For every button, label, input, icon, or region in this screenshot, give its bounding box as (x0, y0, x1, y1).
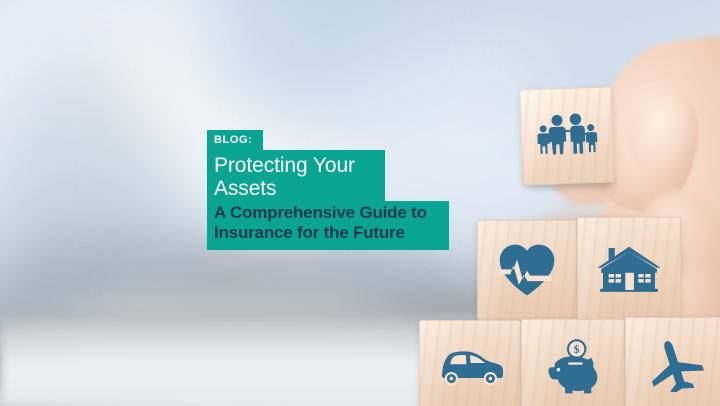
block-health (477, 220, 577, 320)
house-icon (595, 243, 663, 295)
kicker-label: BLOG: (214, 133, 256, 147)
block-savings: $ (521, 319, 625, 406)
block-family (519, 86, 614, 185)
headline-panel: Protecting Your Assets (207, 150, 385, 201)
page-title: Protecting Your Assets (214, 154, 378, 200)
subheadline-panel: A Comprehensive Guide to Insurance for t… (207, 201, 449, 250)
piggy-bank-icon: $ (542, 338, 604, 394)
car-icon (437, 346, 503, 386)
family-icon (534, 110, 600, 162)
block-auto (419, 320, 521, 406)
kicker-panel: BLOG: (207, 130, 263, 150)
airplane-icon (647, 338, 707, 392)
headline-overlay: BLOG: Protecting Your Assets A Comprehen… (207, 130, 449, 250)
svg-text:$: $ (574, 343, 580, 356)
block-travel (625, 317, 720, 406)
blog-hero-banner: $ BLOG: (0, 0, 720, 406)
page-subtitle: A Comprehensive Guide to Insurance for t… (214, 203, 442, 243)
block-home (577, 217, 681, 320)
heart-pulse-icon (496, 242, 558, 298)
